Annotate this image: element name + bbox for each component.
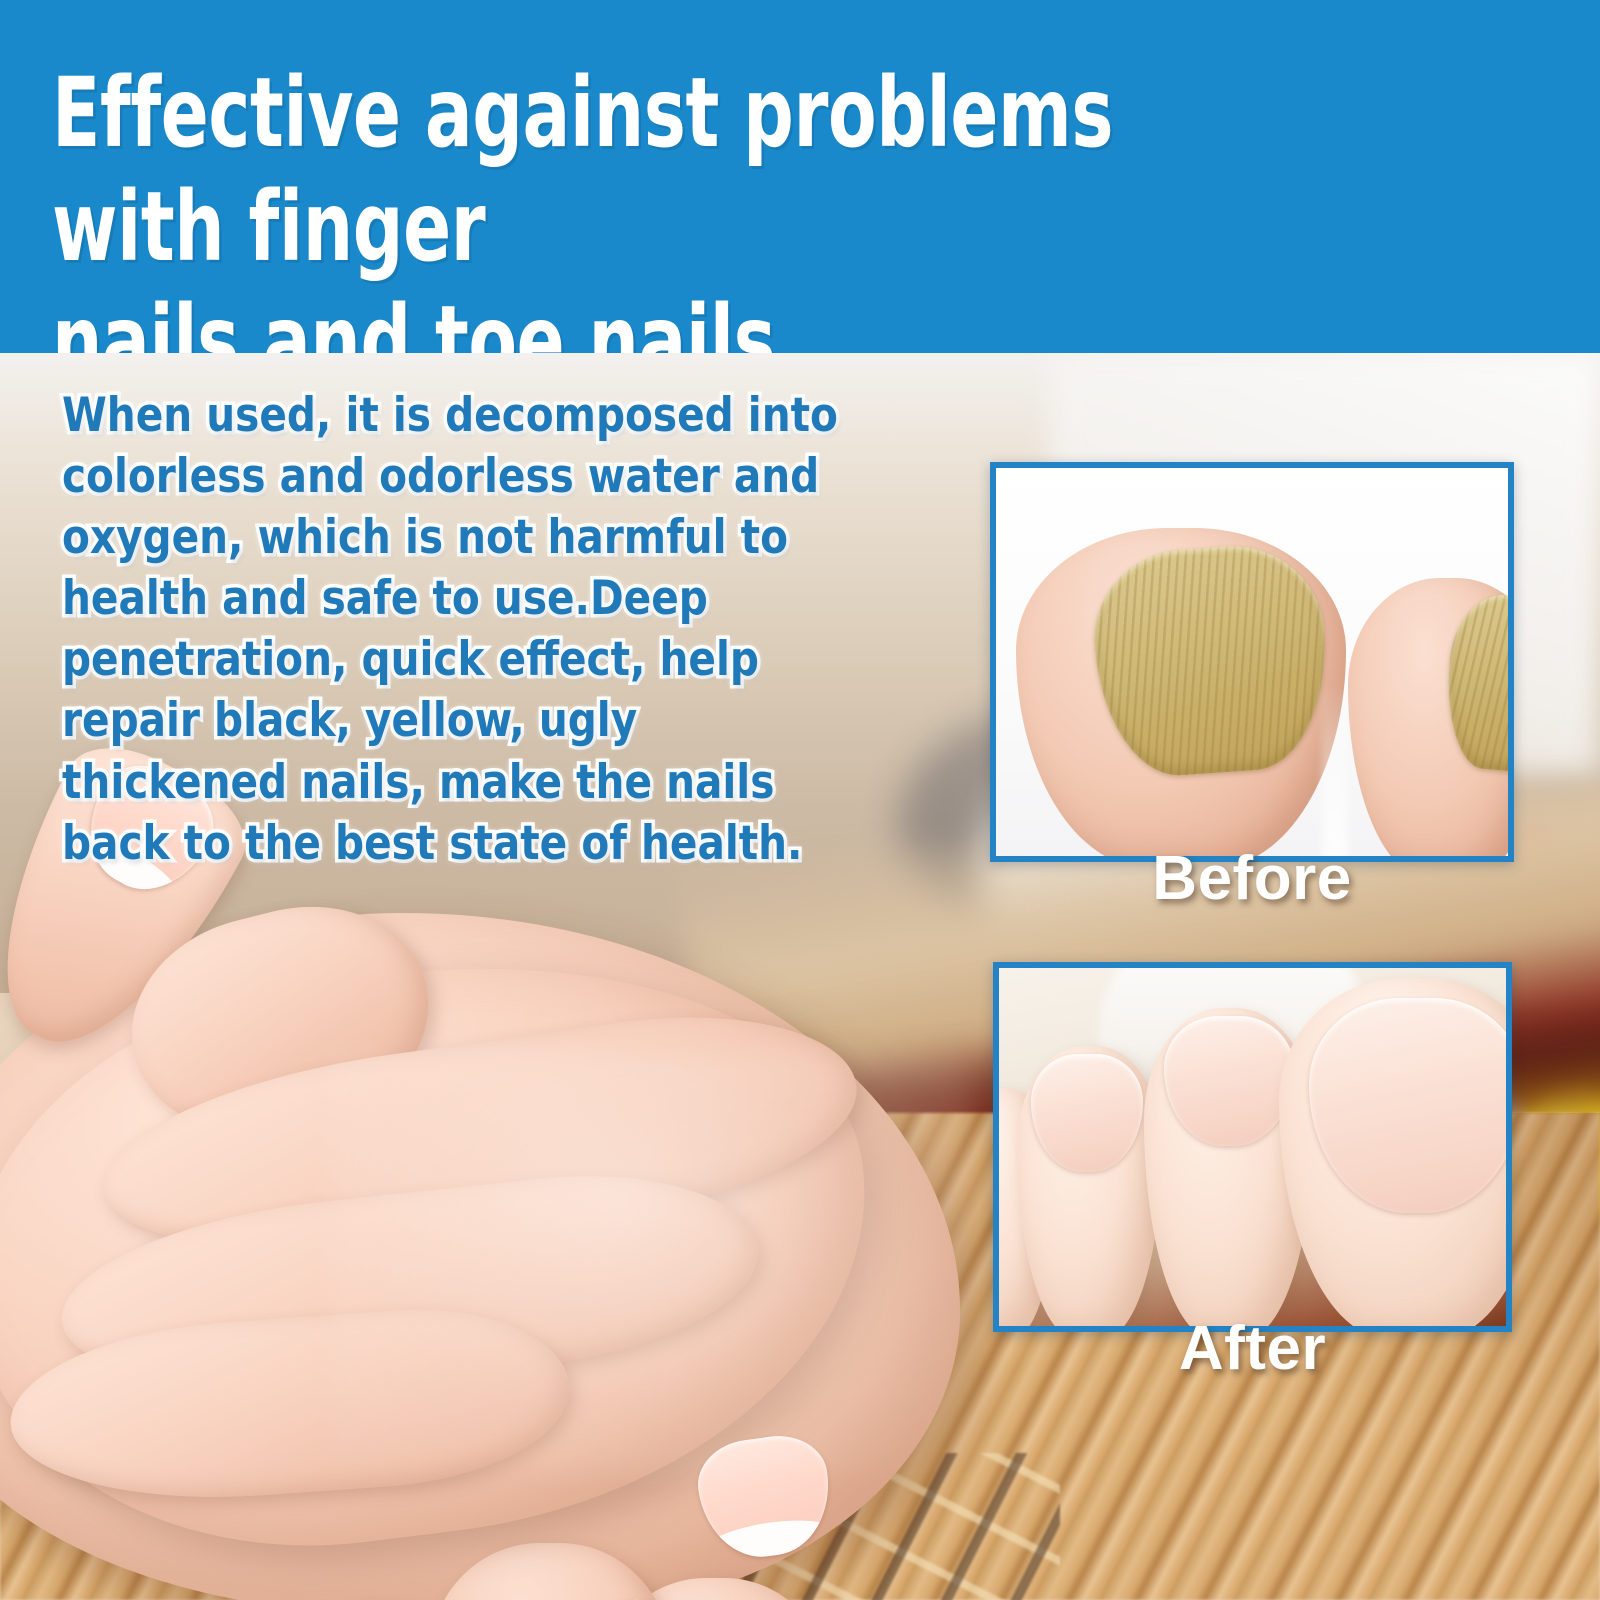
before-toe-gap-shadow (1322, 683, 1348, 862)
before-label: Before (990, 848, 1514, 910)
product-ad-poster: Effective against problems with finger n… (0, 0, 1600, 1600)
description-paragraph: When used, it is decomposed into colorle… (62, 385, 859, 874)
before-photo-frame (990, 462, 1514, 862)
hand-highlight (330, 1053, 970, 1473)
header-banner: Effective against problems with finger n… (0, 0, 1600, 353)
after-label: After (993, 1318, 1512, 1380)
after-photo-frame (993, 962, 1512, 1332)
page-title: Effective against problems with finger n… (52, 56, 1290, 353)
